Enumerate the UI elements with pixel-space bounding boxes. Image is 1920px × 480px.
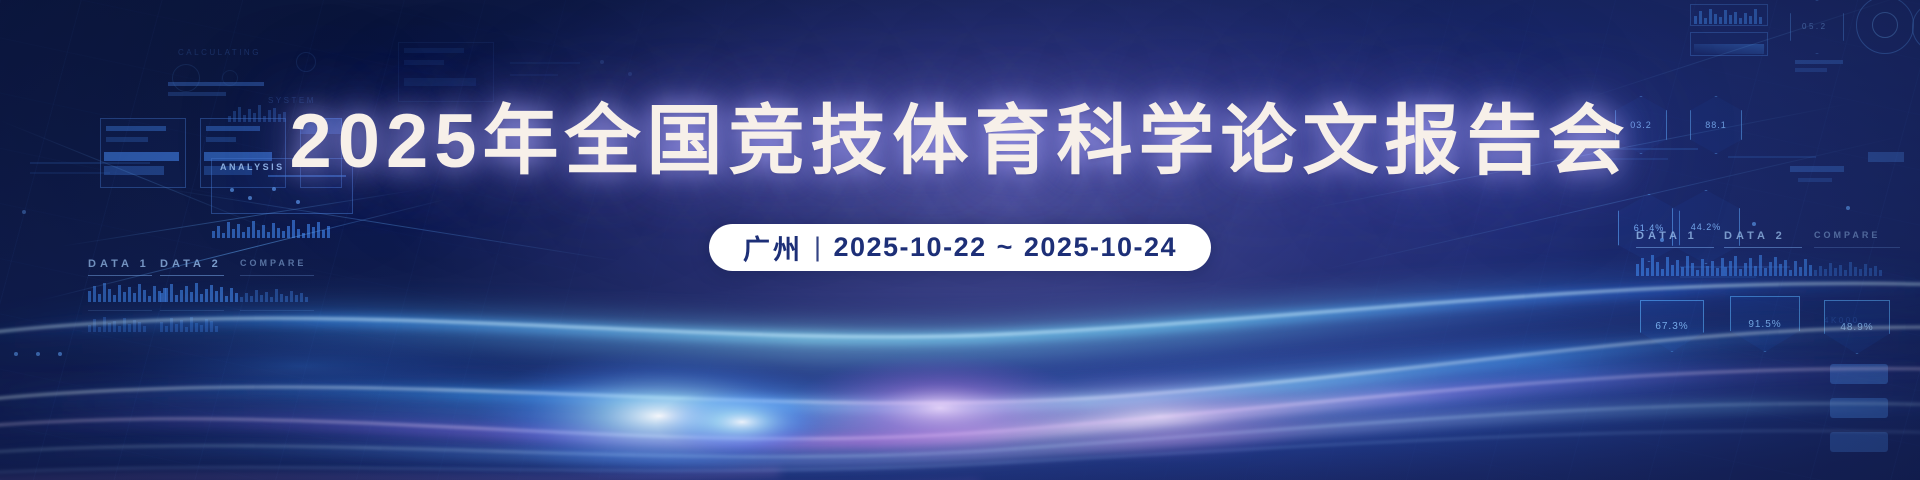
hud-dot — [296, 200, 300, 204]
hud-ring — [172, 64, 200, 92]
hud-ring — [296, 52, 316, 72]
hud-chip — [300, 118, 342, 134]
hud-rule — [1602, 158, 1668, 160]
hud-bar — [1795, 68, 1827, 72]
hud-label-system: SYSTEM — [268, 96, 316, 105]
hud-dot — [22, 210, 26, 214]
page-title: 2025年全国竞技体育科学论文报告会 — [289, 104, 1630, 180]
hud-rule — [30, 162, 150, 164]
hud-dot — [248, 196, 252, 200]
hud-dot — [628, 72, 632, 76]
light-wave-graphic — [0, 220, 1920, 480]
hud-histogram — [1694, 8, 1762, 24]
hud-dot — [1846, 206, 1850, 210]
hud-bar — [106, 137, 148, 142]
hud-bar — [104, 152, 179, 161]
hud-label-analysis: ANALYSIS — [220, 162, 285, 172]
hud-dot — [230, 188, 234, 192]
hud-bar — [206, 137, 236, 142]
hud-bar — [1798, 178, 1832, 182]
hud-bar — [206, 126, 260, 131]
event-banner: ANALYSIS CALCULATING SYSTEM — [0, 0, 1920, 480]
hud-hex-badge: 03.2 — [1615, 96, 1667, 154]
hud-label-calculating: CALCULATING — [178, 48, 261, 57]
hud-chip — [1868, 152, 1904, 162]
hud-bar — [404, 60, 444, 65]
hud-dot — [600, 60, 604, 64]
hud-bar — [404, 48, 464, 53]
hud-bar — [404, 78, 476, 86]
hud-bar — [1795, 60, 1843, 64]
hud-ring-gauge — [1912, 2, 1920, 52]
hud-hex-value: 03.2 — [1630, 120, 1652, 130]
hud-rule — [510, 62, 580, 64]
hud-rule — [268, 175, 346, 177]
hud-bar — [168, 82, 264, 86]
hud-dot — [272, 187, 276, 191]
hud-rule — [30, 172, 110, 174]
hud-rule — [510, 74, 558, 76]
hud-bar — [168, 92, 226, 96]
hud-histogram — [228, 104, 286, 122]
hud-bar — [1790, 166, 1844, 172]
hud-bar — [106, 126, 166, 131]
